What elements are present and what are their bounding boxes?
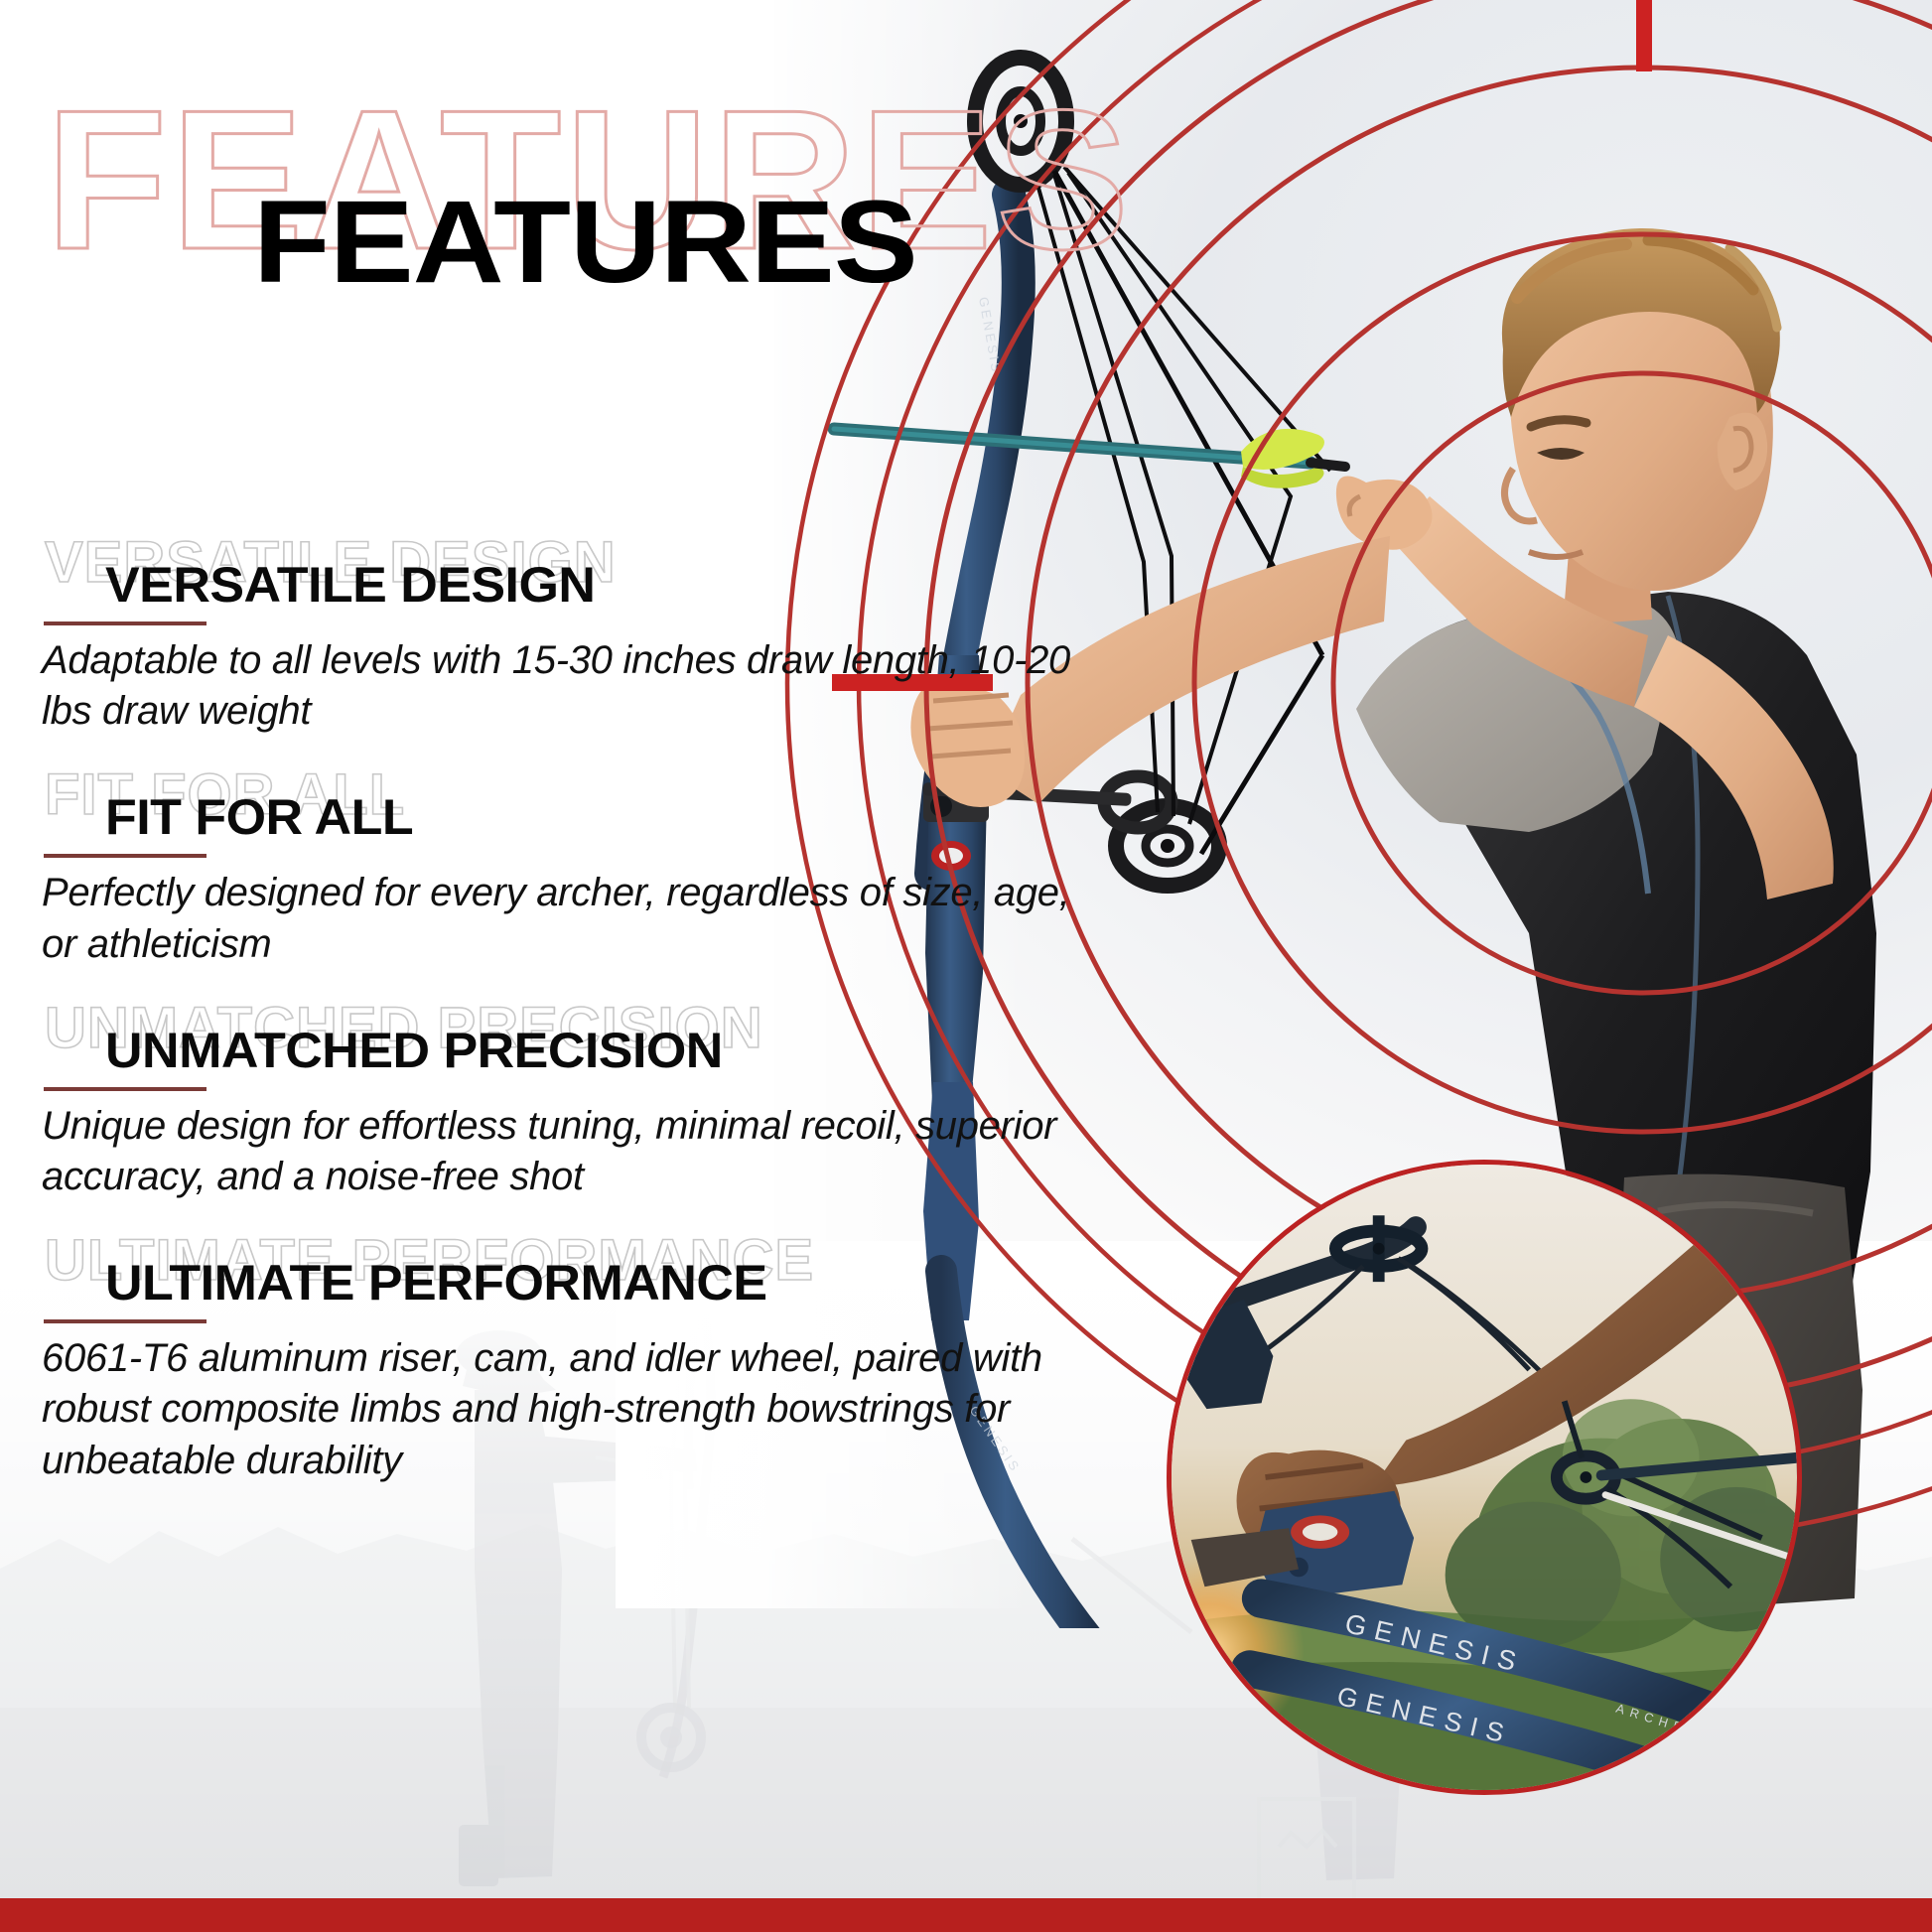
feature-title: VERSATILE DESIGN — [105, 560, 595, 610]
feature-list: VERSATILE DESIGN VERSATILE DESIGN Adapta… — [0, 534, 1132, 1516]
crosshair-tick-top — [1636, 0, 1652, 71]
feature-item: UNMATCHED PRECISION UNMATCHED PRECISION … — [0, 1000, 1132, 1202]
feature-underline — [44, 854, 207, 858]
features-poster: GENESIS GENESIS — [0, 0, 1932, 1932]
bottom-red-bar — [0, 1898, 1932, 1932]
feature-title: FIT FOR ALL — [105, 792, 413, 842]
feature-item: FIT FOR ALL FIT FOR ALL Perfectly design… — [0, 766, 1132, 969]
feature-body: 6061-T6 aluminum riser, cam, and idler w… — [42, 1333, 1094, 1486]
feature-body: Unique design for effortless tuning, min… — [42, 1101, 1094, 1202]
feature-title: ULTIMATE PERFORMANCE — [105, 1258, 767, 1308]
feature-item: ULTIMATE PERFORMANCE ULTIMATE PERFORMANC… — [0, 1232, 1132, 1486]
feature-body: Adaptable to all levels with 15-30 inche… — [42, 635, 1094, 737]
feature-item: VERSATILE DESIGN VERSATILE DESIGN Adapta… — [0, 534, 1132, 737]
page-title-block: FEATURES FEATURES — [0, 69, 1191, 328]
feature-title: UNMATCHED PRECISION — [105, 1026, 723, 1075]
page-title: FEATURES — [253, 184, 917, 301]
bow-closeup-inset: GENESIS ARCHERY GENESIS AR — [1167, 1160, 1802, 1795]
feature-underline — [44, 1087, 207, 1091]
feature-body: Perfectly designed for every archer, reg… — [42, 868, 1094, 969]
feature-underline — [44, 1319, 207, 1323]
feature-underline — [44, 621, 207, 625]
